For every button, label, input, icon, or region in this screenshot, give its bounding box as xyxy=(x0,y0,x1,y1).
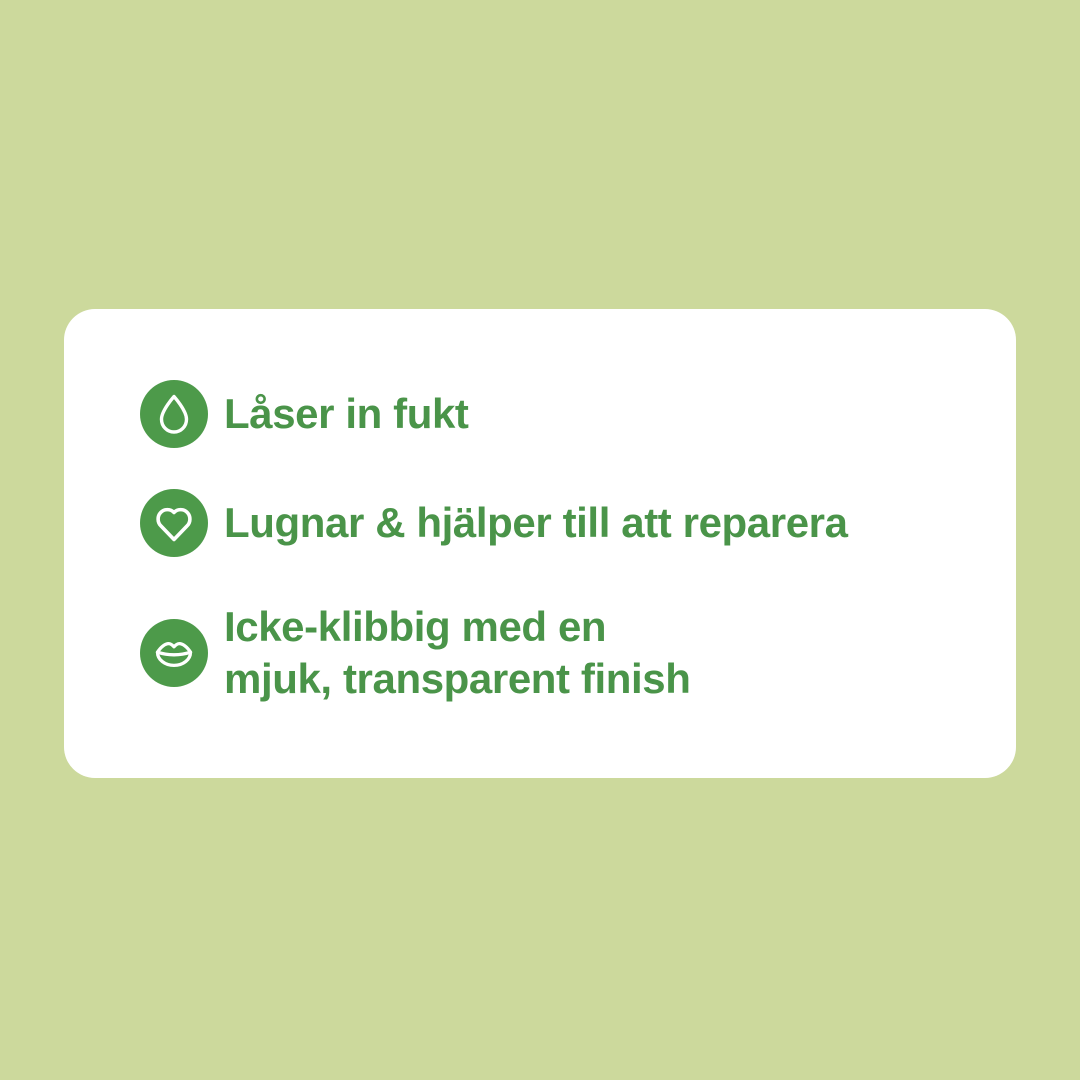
benefits-card: Låser in fukt Lugnar & hjälper till att … xyxy=(64,309,1016,778)
benefit-item-finish: Icke-klibbig med en mjuk, transparent fi… xyxy=(140,601,996,705)
promo-graphic: Låser in fukt Lugnar & hjälper till att … xyxy=(0,0,1080,1080)
heart-icon xyxy=(140,489,208,557)
benefit-item-calm: Lugnar & hjälper till att reparera xyxy=(140,489,996,557)
benefit-item-moisture: Låser in fukt xyxy=(140,380,996,448)
water-droplet-icon xyxy=(140,380,208,448)
benefits-list: Låser in fukt Lugnar & hjälper till att … xyxy=(140,380,996,705)
benefit-label: Låser in fukt xyxy=(224,388,469,440)
benefit-label: Lugnar & hjälper till att reparera xyxy=(224,497,848,549)
lips-icon xyxy=(140,619,208,687)
benefit-label: Icke-klibbig med en mjuk, transparent fi… xyxy=(224,601,691,705)
